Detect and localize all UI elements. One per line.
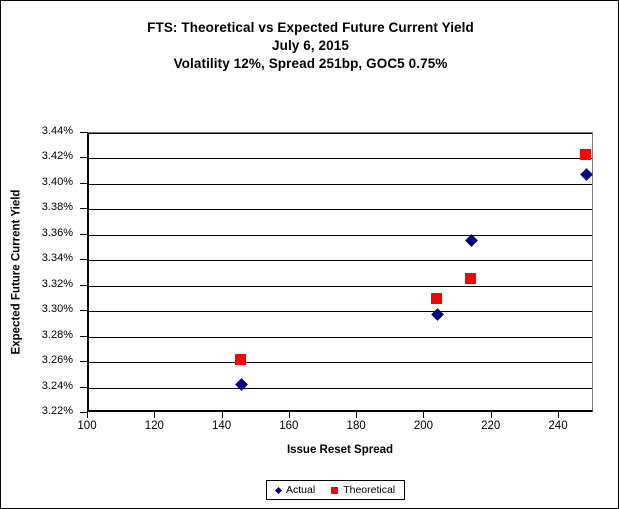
chart-legend: Actual Theoretical <box>266 480 405 500</box>
legend-label-actual: Actual <box>286 484 315 496</box>
y-axis-tick-label: 3.24% <box>13 381 73 392</box>
x-axis-tick-label: 100 <box>62 420 112 432</box>
chart-title: FTS: Theoretical vs Expected Future Curr… <box>1 19 619 37</box>
data-point-theoretical <box>431 293 442 304</box>
data-point-actual <box>581 168 594 181</box>
gridline-horizontal <box>89 184 592 185</box>
gridline-horizontal <box>89 260 592 261</box>
y-axis-tick <box>80 361 88 362</box>
y-axis-tick <box>80 336 88 337</box>
gridline-horizontal <box>89 158 592 159</box>
x-axis-tick-label: 140 <box>197 420 247 432</box>
chart-container: FTS: Theoretical vs Expected Future Curr… <box>0 0 619 509</box>
x-axis-tick-label: 240 <box>533 420 583 432</box>
y-axis-tick <box>80 234 88 235</box>
y-axis-tick-label: 3.28% <box>13 330 73 341</box>
x-axis-tick-label: 120 <box>129 420 179 432</box>
x-axis-tick <box>558 412 559 418</box>
y-axis-tick-label: 3.34% <box>13 253 73 264</box>
gridline-horizontal <box>89 286 592 287</box>
chart-subtitle-date: July 6, 2015 <box>1 37 619 55</box>
y-axis-tick <box>80 157 88 158</box>
x-axis-tick <box>222 412 223 418</box>
y-axis-tick <box>80 285 88 286</box>
square-marker-icon <box>331 487 338 494</box>
y-axis-tick-label: 3.32% <box>13 279 73 290</box>
y-axis-title: Expected Future Current Yield <box>5 132 27 412</box>
y-axis-tick-label: 3.40% <box>13 177 73 188</box>
y-axis-tick-label: 3.22% <box>13 406 73 417</box>
chart-subtitle-params: Volatility 12%, Spread 251bp, GOC5 0.75% <box>1 55 619 73</box>
y-axis-tick-label: 3.30% <box>13 304 73 315</box>
plot-area <box>87 132 593 412</box>
x-axis-tick-label: 180 <box>331 420 381 432</box>
gridline-horizontal <box>89 337 592 338</box>
x-axis-tick <box>87 412 88 418</box>
y-axis-tick-label: 3.36% <box>13 228 73 239</box>
y-axis-tick-label: 3.26% <box>13 355 73 366</box>
y-axis-tick <box>80 183 88 184</box>
y-axis-tick-label: 3.44% <box>13 126 73 137</box>
legend-label-theoretical: Theoretical <box>343 484 395 496</box>
x-axis-tick <box>423 412 424 418</box>
x-axis-tick <box>154 412 155 418</box>
chart-title-block: FTS: Theoretical vs Expected Future Curr… <box>1 19 619 73</box>
x-axis-tick <box>289 412 290 418</box>
gridline-horizontal <box>89 362 592 363</box>
gridline-horizontal <box>89 209 592 210</box>
x-axis-tick-label: 160 <box>264 420 314 432</box>
gridline-horizontal <box>89 388 592 389</box>
x-axis-title: Issue Reset Spread <box>87 444 593 456</box>
y-axis-tick <box>80 387 88 388</box>
x-axis-tick-label: 220 <box>466 420 516 432</box>
data-point-actual <box>235 378 248 391</box>
y-axis-tick <box>80 310 88 311</box>
y-axis-tick-label: 3.38% <box>13 202 73 213</box>
data-point-actual <box>431 308 444 321</box>
data-point-theoretical <box>580 149 591 160</box>
x-axis-tick <box>356 412 357 418</box>
x-axis-tick <box>491 412 492 418</box>
y-axis-tick <box>80 132 88 133</box>
gridline-horizontal <box>89 311 592 312</box>
diamond-marker-icon <box>275 486 282 493</box>
y-axis-tick-label: 3.42% <box>13 151 73 162</box>
gridline-horizontal <box>89 133 592 134</box>
x-axis-tick-label: 200 <box>398 420 448 432</box>
legend-entry-actual: Actual <box>276 484 315 496</box>
data-point-theoretical <box>235 354 246 365</box>
legend-entry-theoretical: Theoretical <box>331 484 395 496</box>
y-axis-tick <box>80 208 88 209</box>
gridline-horizontal <box>89 235 592 236</box>
data-point-theoretical <box>465 273 476 284</box>
y-axis-tick <box>80 259 88 260</box>
